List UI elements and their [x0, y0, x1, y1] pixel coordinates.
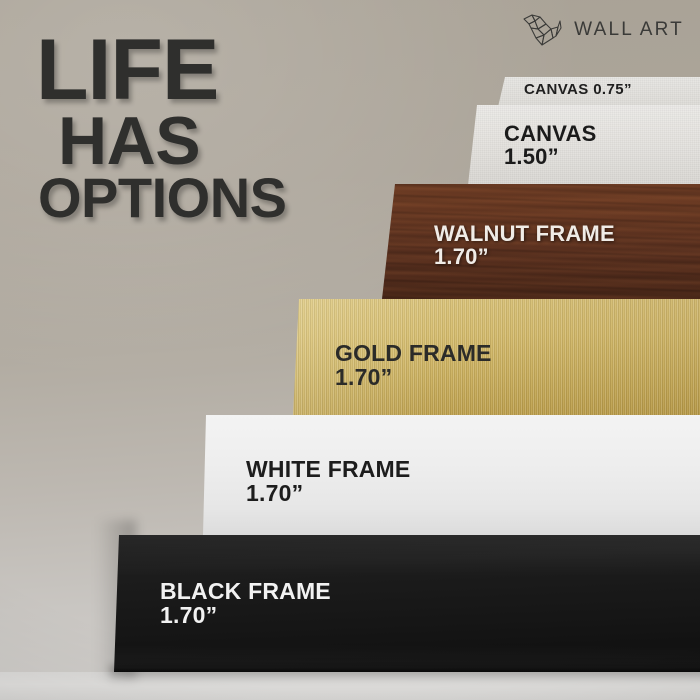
- brand-logo: WALL ART: [520, 12, 684, 48]
- option-label-gold-frame: GOLD FRAME 1.70”: [335, 341, 492, 390]
- option-black-frame[interactable]: BLACK FRAME 1.70”: [114, 535, 700, 672]
- option-label-canvas-150: CANVAS 1.50”: [504, 122, 596, 169]
- option-label-black-frame: BLACK FRAME 1.70”: [160, 579, 331, 628]
- product-options-poster: LIFE HAS OPTIONS WALL ART CANVAS 0.75” C…: [0, 0, 700, 700]
- origami-goat-icon: [520, 12, 564, 48]
- option-canvas-075[interactable]: CANVAS 0.75”: [498, 77, 700, 107]
- option-walnut-frame[interactable]: WALNUT FRAME 1.70”: [382, 184, 700, 299]
- option-white-frame[interactable]: WHITE FRAME 1.70”: [203, 415, 700, 535]
- brand-name: WALL ART: [574, 19, 684, 41]
- headline-line-1: LIFE: [36, 34, 287, 108]
- headline-line-3: OPTIONS: [38, 174, 287, 222]
- option-label-walnut-frame: WALNUT FRAME 1.70”: [434, 222, 615, 269]
- option-label-white-frame: WHITE FRAME 1.70”: [246, 457, 410, 506]
- option-label-canvas-075: CANVAS 0.75”: [524, 82, 632, 98]
- headline-line-2: HAS: [58, 112, 287, 170]
- option-canvas-150[interactable]: CANVAS 1.50”: [468, 105, 700, 185]
- background-floor: [0, 672, 700, 700]
- headline: LIFE HAS OPTIONS: [36, 34, 287, 223]
- option-gold-frame[interactable]: GOLD FRAME 1.70”: [293, 299, 700, 415]
